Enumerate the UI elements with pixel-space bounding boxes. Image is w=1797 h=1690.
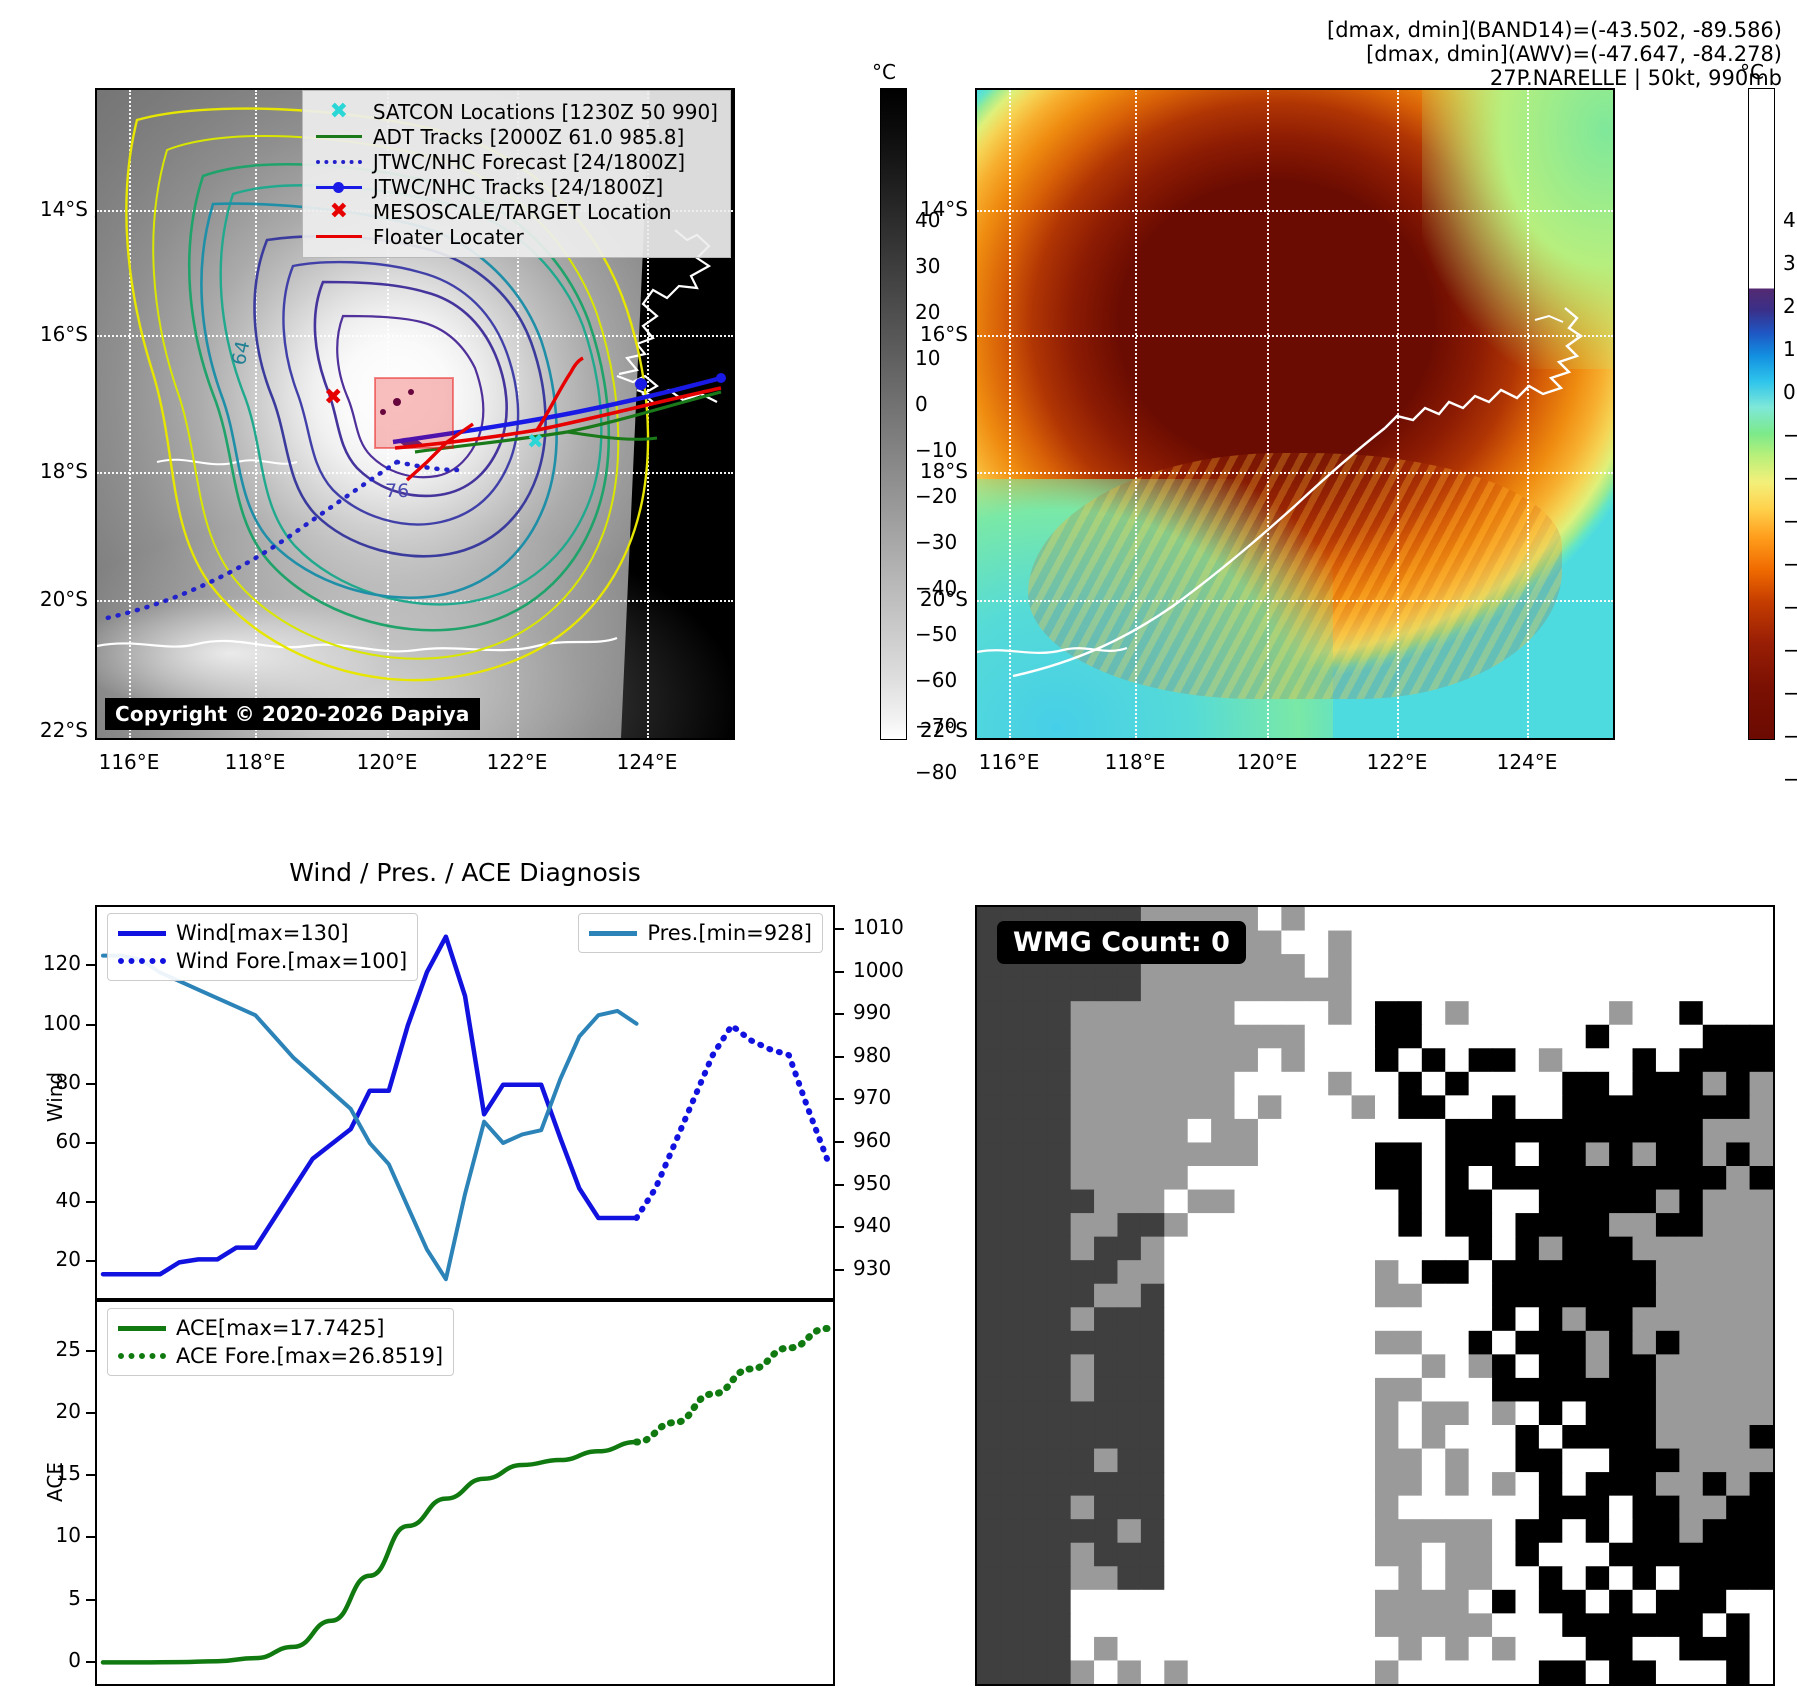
awv-gridline-lat-14 [977, 210, 1613, 212]
wind-tickmark [86, 1201, 95, 1203]
ir-colorbar [880, 88, 907, 740]
awv-cb-tick-m50: −50 [1783, 595, 1797, 619]
ir-colorbar-unit: °C [872, 60, 896, 84]
pressure-tick-1010: 1010 [853, 915, 904, 939]
ir-cb-tick-m60: −60 [915, 668, 957, 692]
pressure-tick-990: 990 [853, 1000, 891, 1024]
awv-satellite-map[interactable] [975, 88, 1615, 740]
mesoscale-target-marker[interactable]: ✖ [324, 387, 342, 409]
awv-lon-tick-116: 116°E [969, 750, 1049, 774]
ace-tickmark [86, 1412, 95, 1414]
legend-item-wind[interactable]: Wind[max=130] [118, 919, 407, 947]
awv-gridline-lat-18 [977, 472, 1613, 474]
legend-item-adt[interactable]: ADT Tracks [2000Z 61.0 985.8] [313, 124, 718, 149]
legend-item-wind-forecast[interactable]: Wind Fore.[max=100] [118, 947, 407, 975]
pressure-tickmark [835, 1141, 844, 1143]
ir-lon-tick-122: 122°E [477, 750, 557, 774]
ace-tickmark [86, 1661, 95, 1663]
awv-lat-tick-16: 16°S [902, 322, 968, 346]
wind-tickmark [86, 1142, 95, 1144]
awv-lat-tick-22: 22°S [902, 718, 968, 742]
green-solid-line-icon [118, 1326, 170, 1331]
awv-lon-tick-122: 122°E [1357, 750, 1437, 774]
pressure-tick-1000: 1000 [853, 958, 904, 982]
wmg-count-badge: WMG Count: 0 [997, 921, 1246, 964]
header-stats: [dmax, dmin](BAND14)=(-43.502, -89.586) … [1327, 18, 1782, 90]
awv-lon-tick-118: 118°E [1095, 750, 1175, 774]
legend-item-ace-forecast[interactable]: ACE Fore.[max=26.8519] [118, 1342, 443, 1370]
awv-gridline-lon-122 [1397, 90, 1399, 738]
awv-cb-tick-0: 0 [1783, 380, 1796, 404]
dmax-dmin-band14: [dmax, dmin](BAND14)=(-43.502, -89.586) [1327, 18, 1782, 42]
legend-label-ace: ACE[max=17.7425] [176, 1316, 385, 1340]
ir-cb-tick-30: 30 [915, 254, 940, 278]
awv-lat-tick-18: 18°S [902, 459, 968, 483]
ace-tickmark [86, 1474, 95, 1476]
pressure-legend: Pres.[min=928] [578, 913, 823, 953]
blue-dotted-line-icon [313, 160, 365, 164]
legend-label-jtwc-forecast: JTWC/NHC Forecast [24/1800Z] [373, 150, 685, 174]
awv-lat-tick-14: 14°S [902, 197, 968, 221]
awv-coastline [977, 90, 1615, 740]
pressure-tickmark [835, 1013, 844, 1015]
pressure-tickmark [835, 971, 844, 973]
wind-tickmark [86, 1260, 95, 1262]
awv-cb-tick-m10: −10 [1783, 423, 1797, 447]
ir-lat-tick-16: 16°S [22, 322, 88, 346]
legend-item-mesoscale[interactable]: ✖ MESOSCALE/TARGET Location [313, 199, 718, 224]
awv-gridline-lon-116 [1009, 90, 1011, 738]
wind-legend: Wind[max=130] Wind Fore.[max=100] [107, 913, 418, 981]
legend-item-jtwc-tracks[interactable]: JTWC/NHC Tracks [24/1800Z] [313, 174, 718, 199]
ir-lon-tick-124: 124°E [607, 750, 687, 774]
wind-pressure-chart[interactable]: Wind[max=130] Wind Fore.[max=100] Pres.[… [95, 905, 835, 1300]
ir-lat-tick-20: 20°S [22, 587, 88, 611]
pressure-tickmark [835, 1184, 844, 1186]
legend-label-floater: Floater Locater [373, 225, 524, 249]
awv-cb-tick-10: 10 [1783, 337, 1797, 361]
ace-tick-5: 5 [68, 1586, 81, 1610]
legend-item-satcon[interactable]: ✖ SATCON Locations [1230Z 50 990] [313, 99, 718, 124]
awv-cb-tick-m90: −90 [1783, 767, 1797, 791]
ir-cb-tick-m50: −50 [915, 622, 957, 646]
red-x-marker-icon: ✖ [313, 201, 365, 223]
dmax-dmin-awv: [dmax, dmin](AWV)=(-47.647, -84.278) [1327, 42, 1782, 66]
wind-tickmark [86, 964, 95, 966]
ir-cb-tick-m30: −30 [915, 530, 957, 554]
map-legend: ✖ SATCON Locations [1230Z 50 990] ADT Tr… [302, 90, 731, 258]
green-dotted-line-icon [118, 1353, 170, 1359]
wind-tickmark [86, 1024, 95, 1026]
awv-cb-tick-40: 40 [1783, 208, 1797, 232]
wmg-panel[interactable]: WMG Count: 0 [975, 905, 1775, 1686]
awv-cb-tick-m80: −80 [1783, 724, 1797, 748]
storm-summary: 27P.NARELLE | 50kt, 990mb [1327, 66, 1782, 90]
awv-colorbar-unit: °C [1740, 60, 1764, 84]
wind-tick-120: 120 [43, 951, 81, 975]
awv-cb-tick-m30: −30 [1783, 509, 1797, 533]
legend-label-ace-forecast: ACE Fore.[max=26.8519] [176, 1344, 443, 1368]
awv-gridline-lon-124 [1527, 90, 1529, 738]
ace-legend: ACE[max=17.7425] ACE Fore.[max=26.8519] [107, 1308, 454, 1376]
wind-tickmark [86, 1083, 95, 1085]
awv-lat-tick-20: 20°S [902, 587, 968, 611]
pressure-tickmark [835, 928, 844, 930]
awv-colorbar [1748, 88, 1775, 740]
legend-label-jtwc-tracks: JTWC/NHC Tracks [24/1800Z] [373, 175, 663, 199]
awv-cb-tick-m40: −40 [1783, 552, 1797, 576]
ir-cb-tick-m20: −20 [915, 484, 957, 508]
pressure-tick-950: 950 [853, 1171, 891, 1195]
legend-label-satcon: SATCON Locations [1230Z 50 990] [373, 100, 718, 124]
legend-label-pressure: Pres.[min=928] [647, 921, 812, 945]
awv-colorbar-ticks: 40 30 20 10 0 −10 −20 −30 −40 −50 −60 −7… [1783, 88, 1797, 740]
wmg-raster [977, 907, 1773, 1684]
wind-tick-20: 20 [56, 1247, 81, 1271]
blue-dotted-line-icon [118, 958, 170, 964]
legend-item-pressure[interactable]: Pres.[min=928] [589, 919, 812, 947]
ir-lat-tick-22: 22°S [22, 718, 88, 742]
ace-tick-20: 20 [56, 1399, 81, 1423]
ace-chart[interactable]: ACE[max=17.7425] ACE Fore.[max=26.8519] [95, 1300, 835, 1686]
pressure-tick-960: 960 [853, 1128, 891, 1152]
pressure-tickmark [835, 1269, 844, 1271]
awv-cb-tick-30: 30 [1783, 251, 1797, 275]
ir-lon-tick-120: 120°E [347, 750, 427, 774]
ir-lon-tick-118: 118°E [215, 750, 295, 774]
legend-label-wind: Wind[max=130] [176, 921, 349, 945]
awv-lon-tick-120: 120°E [1227, 750, 1307, 774]
awv-gridline-lat-16 [977, 335, 1613, 337]
awv-cb-tick-m70: −70 [1783, 681, 1797, 705]
ace-tickmark [86, 1599, 95, 1601]
wind-tick-100: 100 [43, 1011, 81, 1035]
legend-item-floater[interactable]: Floater Locater [313, 224, 718, 249]
awv-cb-tick-m60: −60 [1783, 638, 1797, 662]
pressure-axis-ticks: 93094095096097098099010001010 [835, 905, 955, 1300]
green-line-icon [313, 135, 365, 138]
copyright-text: Copyright © 2020-2026 Dapiya [105, 698, 480, 730]
pressure-tick-930: 930 [853, 1256, 891, 1280]
ir-cb-tick-m80: −80 [915, 760, 957, 784]
legend-label-wind-forecast: Wind Fore.[max=100] [176, 949, 407, 973]
awv-lon-tick-124: 124°E [1487, 750, 1567, 774]
wind-axis-label: Wind [43, 1037, 67, 1157]
ace-tick-25: 25 [56, 1337, 81, 1361]
legend-label-adt: ADT Tracks [2000Z 61.0 985.8] [373, 125, 684, 149]
pressure-tickmark [835, 1098, 844, 1100]
pressure-tick-940: 940 [853, 1213, 891, 1237]
awv-gridline-lon-118 [1135, 90, 1137, 738]
awv-cb-tick-m20: −20 [1783, 466, 1797, 490]
blue-solid-line-icon [118, 931, 170, 936]
teal-solid-line-icon [589, 931, 641, 936]
legend-item-ace[interactable]: ACE[max=17.7425] [118, 1314, 443, 1342]
wind-tick-40: 40 [56, 1188, 81, 1212]
ir-lat-tick-14: 14°S [22, 197, 88, 221]
legend-label-mesoscale: MESOSCALE/TARGET Location [373, 200, 672, 224]
diagnosis-title: Wind / Pres. / ACE Diagnosis [95, 858, 835, 887]
awv-gridline-lat-20 [977, 600, 1613, 602]
red-line-icon [313, 235, 365, 238]
pressure-tick-970: 970 [853, 1085, 891, 1109]
ir-lon-tick-116: 116°E [89, 750, 169, 774]
pressure-tickmark [835, 1056, 844, 1058]
ace-axis-label: ACE [43, 1422, 67, 1542]
cyan-x-marker-icon: ✖ [313, 101, 365, 123]
pressure-tick-980: 980 [853, 1043, 891, 1067]
svg-text:✖: ✖ [527, 429, 544, 453]
ace-tick-0: 0 [68, 1648, 81, 1672]
ace-tickmark [86, 1350, 95, 1352]
ir-colorbar-ticks: 40 30 20 10 0 −10 −20 −30 −40 −50 −60 −7… [915, 88, 975, 740]
awv-cb-tick-20: 20 [1783, 294, 1797, 318]
ir-satellite-map[interactable]: 64 76 ✖ ✖ ✖ SATCON Locations [1230Z 50 9… [95, 88, 735, 740]
legend-item-jtwc-forecast[interactable]: JTWC/NHC Forecast [24/1800Z] [313, 149, 718, 174]
ir-cb-tick-0: 0 [915, 392, 928, 416]
ir-lat-tick-18: 18°S [22, 459, 88, 483]
ir-cb-tick-10: 10 [915, 346, 940, 370]
ir-cb-tick-20: 20 [915, 300, 940, 324]
blue-line-marker-icon [313, 181, 365, 193]
ace-tickmark [86, 1536, 95, 1538]
pressure-tickmark [835, 1226, 844, 1228]
awv-gridline-lon-120 [1267, 90, 1269, 738]
